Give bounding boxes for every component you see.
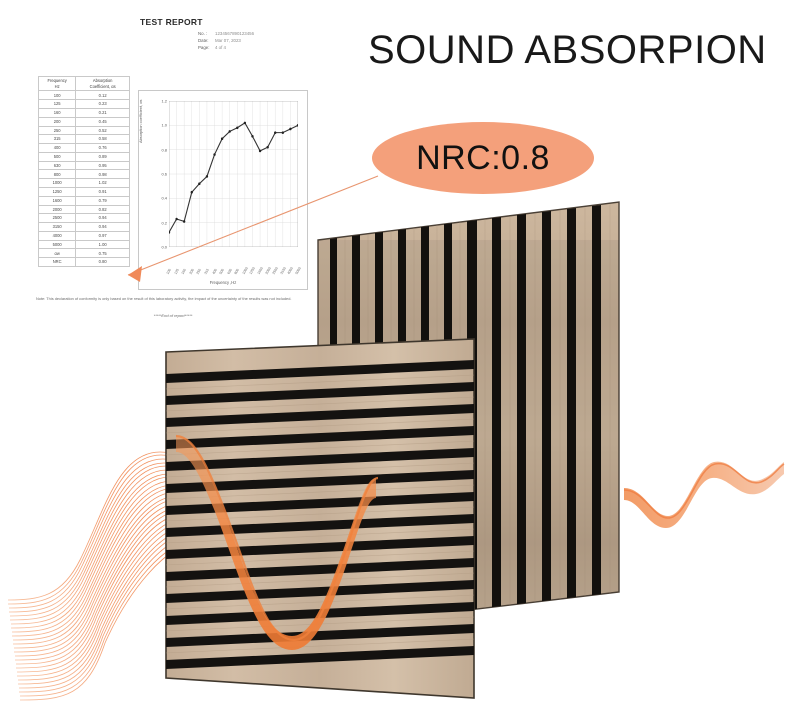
attenuated-sound-wave [0,0,785,726]
poster-canvas: TEST REPORT No. :1234567890123456 Date:M… [0,0,785,726]
